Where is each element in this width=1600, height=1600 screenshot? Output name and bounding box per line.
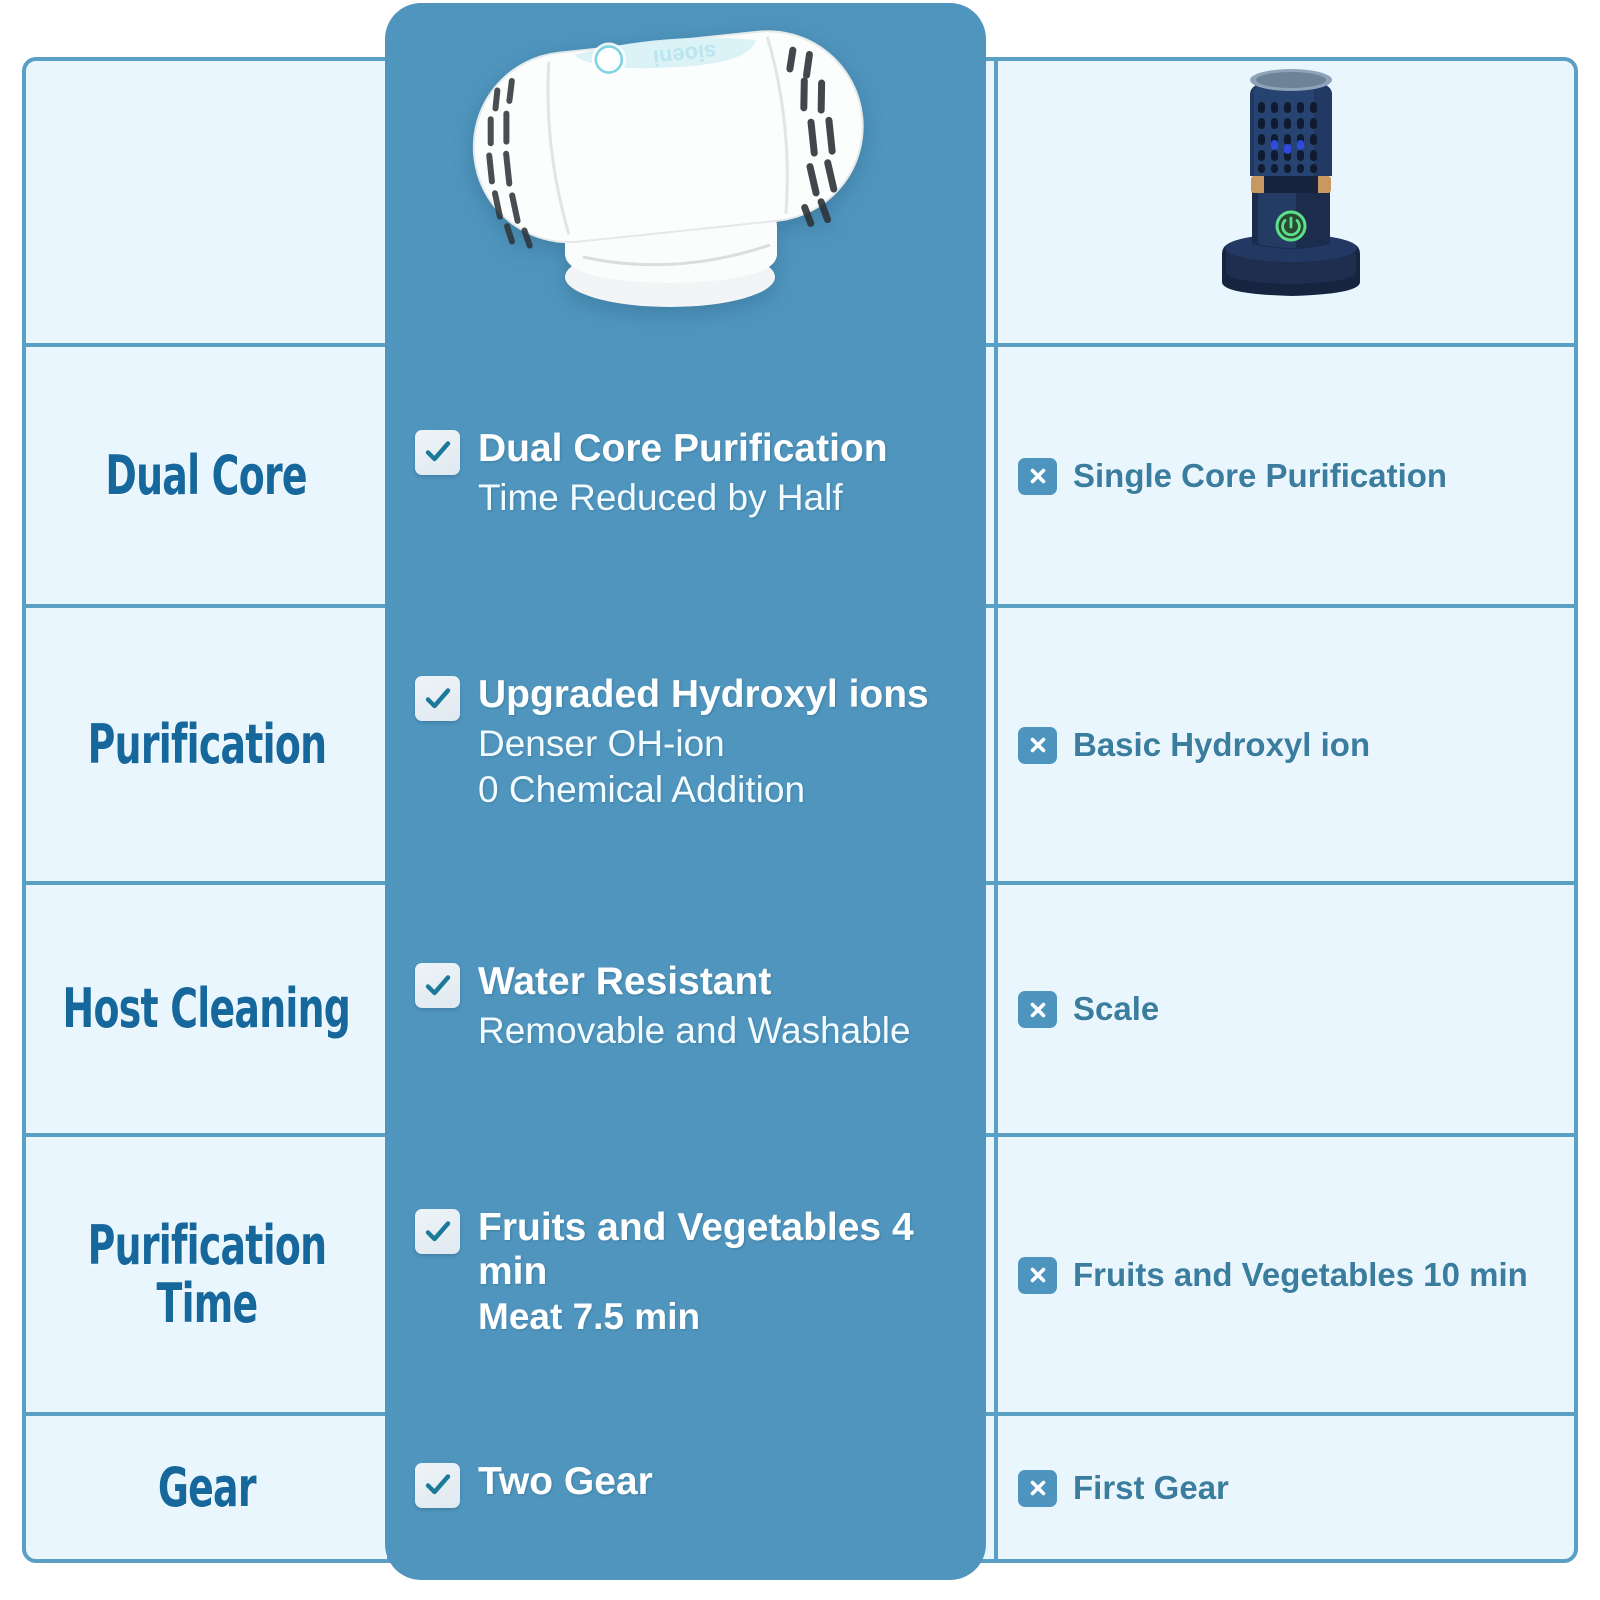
check-icon [415, 1209, 460, 1254]
feature-item-main: Two Gear [415, 1460, 962, 1508]
feature-item: Dual Core Purification Time Reduced by H… [415, 427, 962, 520]
comparison-item: Scale [1018, 988, 1556, 1030]
feature-label: Purification Time [87, 1217, 326, 1331]
panel-row-host-cleaning: Water Resistant Removable and Washable [385, 881, 986, 1133]
featured-product-panel: sioeni Dual Core Purification Time Reduc… [385, 3, 986, 1580]
panel-image-spacer [385, 57, 986, 343]
comparison-item: Basic Hydroxyl ion [1018, 724, 1556, 766]
theirs-cell-purification-time: Fruits and Vegetables 10 min [998, 1137, 1574, 1412]
comparison-text: Scale [1073, 988, 1556, 1030]
feature-title: Water Resistant [478, 960, 962, 1004]
check-icon [415, 676, 460, 721]
feature-item-main: Water Resistant [415, 960, 962, 1008]
feature-title: Fruits and Vegetables 4 min [478, 1206, 962, 1293]
feature-subtext: Time Reduced by Half [415, 475, 962, 520]
theirs-cell-purification: Basic Hydroxyl ion [998, 608, 1574, 881]
featured-feature-list: Dual Core Purification Time Reduced by H… [385, 57, 986, 1563]
feature-title: Two Gear [478, 1460, 962, 1504]
check-icon [415, 1463, 460, 1508]
feature-subtext: Removable and Washable [415, 1008, 962, 1053]
x-icon [1018, 458, 1057, 495]
feature-cell-purification: Purification [26, 608, 391, 881]
comparison-text: Basic Hydroxyl ion [1073, 724, 1556, 766]
x-icon [1018, 1470, 1057, 1507]
feature-cell-purification-time: Purification Time [26, 1137, 391, 1412]
x-icon [1018, 727, 1057, 764]
comparison-text: Fruits and Vegetables 10 min [1073, 1254, 1556, 1296]
comparison-text: Single Core Purification [1073, 455, 1556, 497]
panel-row-gear: Two Gear [385, 1412, 986, 1555]
feature-label: Gear [158, 1459, 256, 1516]
feature-cell-dual-core: Dual Core [26, 347, 391, 604]
feature-subtext: Denser OH-ion [415, 721, 962, 766]
feature-title: Upgraded Hydroxyl ions [478, 673, 962, 717]
comparison-item: Single Core Purification [1018, 455, 1556, 497]
feature-title: Dual Core Purification [478, 427, 962, 471]
comparison-text: First Gear [1073, 1467, 1556, 1509]
feature-label-line1: Purification [87, 1214, 326, 1277]
feature-item-main: Dual Core Purification [415, 427, 962, 475]
x-icon [1018, 1257, 1057, 1294]
theirs-cell-dual-core: Single Core Purification [998, 347, 1574, 604]
feature-item: Upgraded Hydroxyl ions Denser OH-ion 0 C… [415, 673, 962, 811]
panel-row-purification-time: Fruits and Vegetables 4 min Meat 7.5 min [385, 1133, 986, 1412]
feature-subtext-2: 0 Chemical Addition [415, 767, 962, 812]
feature-subtext: Meat 7.5 min [415, 1294, 962, 1339]
feature-label: Dual Core [106, 447, 307, 504]
feature-item-main: Upgraded Hydroxyl ions [415, 673, 962, 721]
product-image-compare [1186, 58, 1396, 308]
feature-label: Purification [87, 716, 326, 773]
feature-cell-gear: Gear [26, 1416, 391, 1559]
x-icon [1018, 991, 1057, 1028]
feature-item-main: Fruits and Vegetables 4 min [415, 1206, 962, 1293]
feature-item: Two Gear [415, 1460, 962, 1508]
feature-item: Water Resistant Removable and Washable [415, 960, 962, 1053]
check-icon [415, 963, 460, 1008]
panel-row-dual-core: Dual Core Purification Time Reduced by H… [385, 343, 986, 604]
feature-cell-host-cleaning: Host Cleaning [26, 885, 391, 1133]
feature-cell-empty [26, 61, 391, 343]
comparison-item: First Gear [1018, 1467, 1556, 1509]
panel-row-purification: Upgraded Hydroxyl ions Denser OH-ion 0 C… [385, 604, 986, 881]
comparison-item: Fruits and Vegetables 10 min [1018, 1254, 1556, 1296]
feature-item: Fruits and Vegetables 4 min Meat 7.5 min [415, 1206, 962, 1338]
theirs-cell-host-cleaning: Scale [998, 885, 1574, 1133]
theirs-cell-gear: First Gear [998, 1416, 1574, 1559]
feature-label-line2: Time [156, 1272, 257, 1335]
feature-label: Host Cleaning [63, 980, 351, 1037]
check-icon [415, 430, 460, 475]
